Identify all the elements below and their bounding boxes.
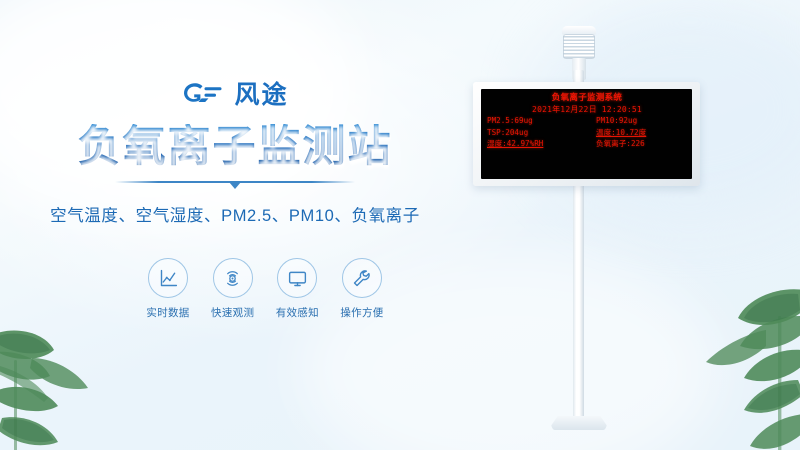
monitor-icon bbox=[287, 268, 308, 289]
led-reading-pm25: PM2.5:69ug bbox=[487, 116, 586, 126]
led-reading-negative-oxygen-ion: 负氧离子:226 bbox=[588, 139, 687, 149]
line-chart-icon bbox=[158, 268, 179, 289]
feature-label: 实时数据 bbox=[140, 305, 196, 320]
led-datetime: 2021年12月22日 12:20:51 bbox=[487, 105, 687, 115]
feature-icon-wrap bbox=[148, 258, 188, 298]
feature-item-fast-observation: 快速观测 bbox=[205, 258, 261, 320]
led-reading-tsp: TSP:204ug bbox=[487, 128, 586, 138]
feature-item-realtime-data: 实时数据 bbox=[140, 258, 196, 320]
decorative-leaf-left bbox=[0, 306, 132, 450]
feature-label: 操作方便 bbox=[334, 305, 390, 320]
title-divider bbox=[115, 179, 355, 191]
feature-item-effective-sensing: 有效感知 bbox=[269, 258, 325, 320]
station-base-flange bbox=[551, 416, 607, 430]
led-display-panel: 负氧离子监测系统 2021年12月22日 12:20:51 PM2.5:69ug… bbox=[481, 89, 692, 179]
divider-caret-icon bbox=[229, 182, 241, 189]
brand-logo: 风途 bbox=[0, 78, 470, 112]
fengtu-logo-mark-icon bbox=[181, 82, 225, 108]
led-reading-humidity: 湿度:42.97%RH bbox=[487, 139, 586, 149]
feature-label: 快速观测 bbox=[205, 305, 261, 320]
led-title: 负氧离子监测系统 bbox=[487, 94, 687, 104]
brand-logo-text: 风途 bbox=[234, 83, 288, 108]
feature-icon-wrap bbox=[342, 258, 382, 298]
wrench-icon bbox=[351, 268, 372, 289]
led-screen-bezel: 负氧离子监测系统 2021年12月22日 12:20:51 PM2.5:69ug… bbox=[473, 82, 700, 186]
page-title: 负氧离子监测站 bbox=[0, 124, 470, 170]
led-readings-grid: PM2.5:69ug PM10:92ug TSP:204ug 温度:10.72度… bbox=[487, 116, 687, 149]
radar-scan-icon bbox=[222, 268, 243, 289]
promo-banner: 风途 负氧离子监测站 空气温度、空气湿度、PM2.5、PM10、负氧离子 bbox=[0, 0, 800, 450]
decorative-leaf-right bbox=[666, 276, 800, 450]
page-subtitle: 空气温度、空气湿度、PM2.5、PM10、负氧离子 bbox=[0, 202, 470, 226]
hero-text-block: 风途 负氧离子监测站 空气温度、空气湿度、PM2.5、PM10、负氧离子 bbox=[0, 78, 470, 226]
feature-item-easy-operation: 操作方便 bbox=[334, 258, 390, 320]
feature-list: 实时数据 快速观测 bbox=[140, 258, 390, 320]
led-reading-pm10: PM10:92ug bbox=[588, 116, 687, 126]
feature-label: 有效感知 bbox=[269, 305, 325, 320]
feature-icon-wrap bbox=[277, 258, 317, 298]
feature-icon-wrap bbox=[213, 258, 253, 298]
radiation-shield bbox=[563, 34, 595, 59]
led-reading-temperature: 温度:10.72度 bbox=[588, 128, 687, 138]
